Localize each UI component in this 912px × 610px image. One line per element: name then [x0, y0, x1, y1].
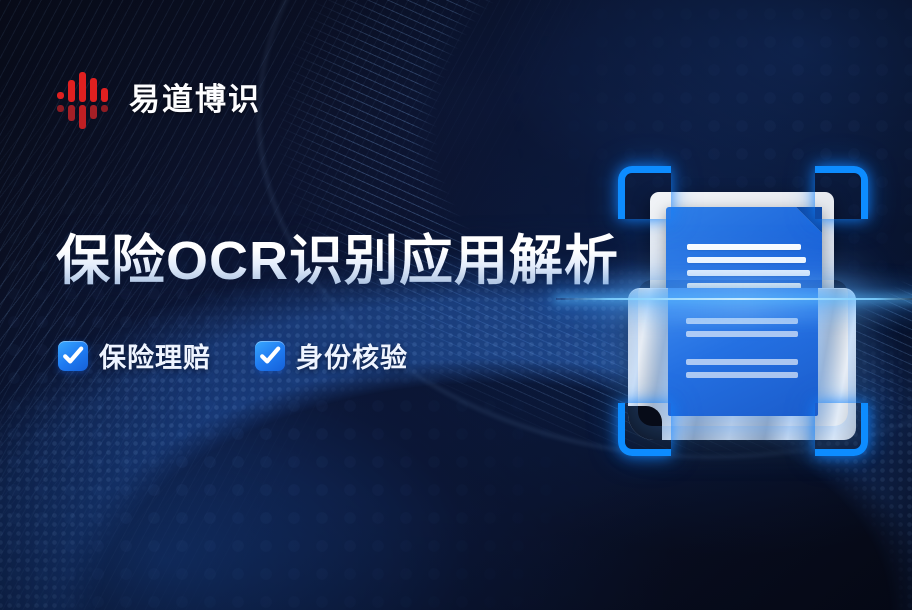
check-square-icon [58, 341, 88, 371]
page-title: 保险OCR识别应用解析 [56, 231, 619, 291]
feature-tag-list: 保险理赔 身份核验 [58, 336, 408, 375]
sound-wave-dot-matrix-icon [57, 68, 113, 130]
document-scan-illustration [608, 160, 876, 460]
scan-beam-icon [556, 298, 912, 300]
scan-corner-bracket-bottom-right-icon [815, 403, 868, 456]
check-square-icon [255, 341, 285, 371]
feature-tag-insurance-claim: 保险理赔 [58, 336, 211, 375]
scan-corner-bracket-bottom-left-icon [618, 403, 671, 456]
brand-name: 易道博识 [129, 84, 261, 115]
folder-document-text-lines [686, 318, 798, 378]
scan-corner-bracket-top-right-icon [815, 166, 868, 219]
feature-tag-label: 保险理赔 [99, 336, 211, 375]
feature-tag-identity-verification: 身份核验 [255, 336, 408, 375]
scan-beam-glow [568, 280, 912, 320]
promo-banner: 易道博识 保险OCR识别应用解析 保险理赔 身份核验 [0, 0, 912, 610]
feature-tag-label: 身份核验 [296, 336, 408, 375]
scan-corner-bracket-top-left-icon [618, 166, 671, 219]
brand-logo: 易道博识 [57, 68, 261, 130]
